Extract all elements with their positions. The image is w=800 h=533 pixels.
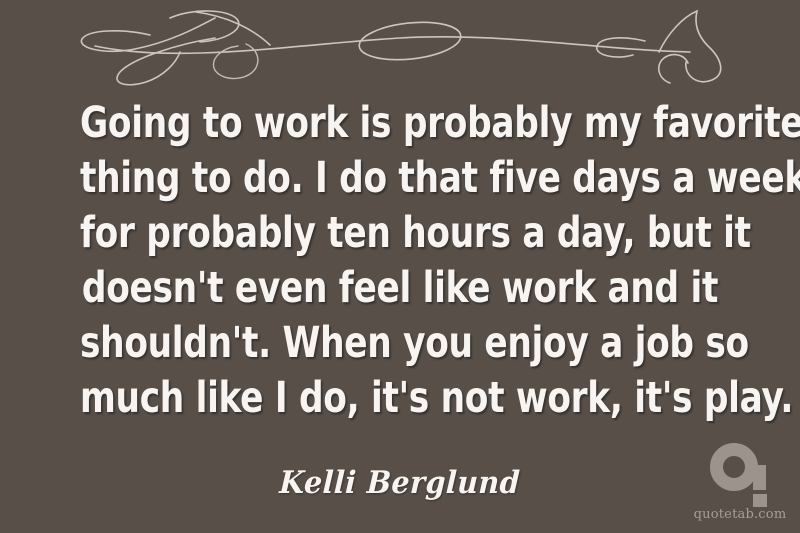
quote-line: thing to do. I do that five days a week (80, 151, 720, 206)
quote-text: Going to work is probably my favorite th… (0, 96, 800, 426)
author-name: Kelli Berglund (279, 465, 521, 501)
logo-dot-shape (753, 494, 767, 507)
quote-line: shouldn't. When you enjoy a job so (80, 316, 720, 371)
author-attribution: Kelli Berglund (0, 465, 800, 501)
quote-line: Going to work is probably my favorite (80, 96, 720, 151)
quote-line: doesn't even feel like work and it (80, 261, 720, 316)
quote-line: much like I do, it's not work, it's play… (80, 371, 720, 426)
watermark[interactable]: quotetab.com (688, 443, 792, 529)
flourish-ornament-icon (0, 0, 800, 92)
quote-line: for probably ten hours a day, but it (80, 206, 720, 261)
watermark-site-label: quotetab.com (688, 507, 792, 522)
logo-stem-shape (753, 465, 766, 490)
quote-card: Going to work is probably my favorite th… (0, 0, 800, 533)
quotetab-q-logo-icon (710, 443, 774, 505)
logo-ring-shape (710, 443, 758, 491)
